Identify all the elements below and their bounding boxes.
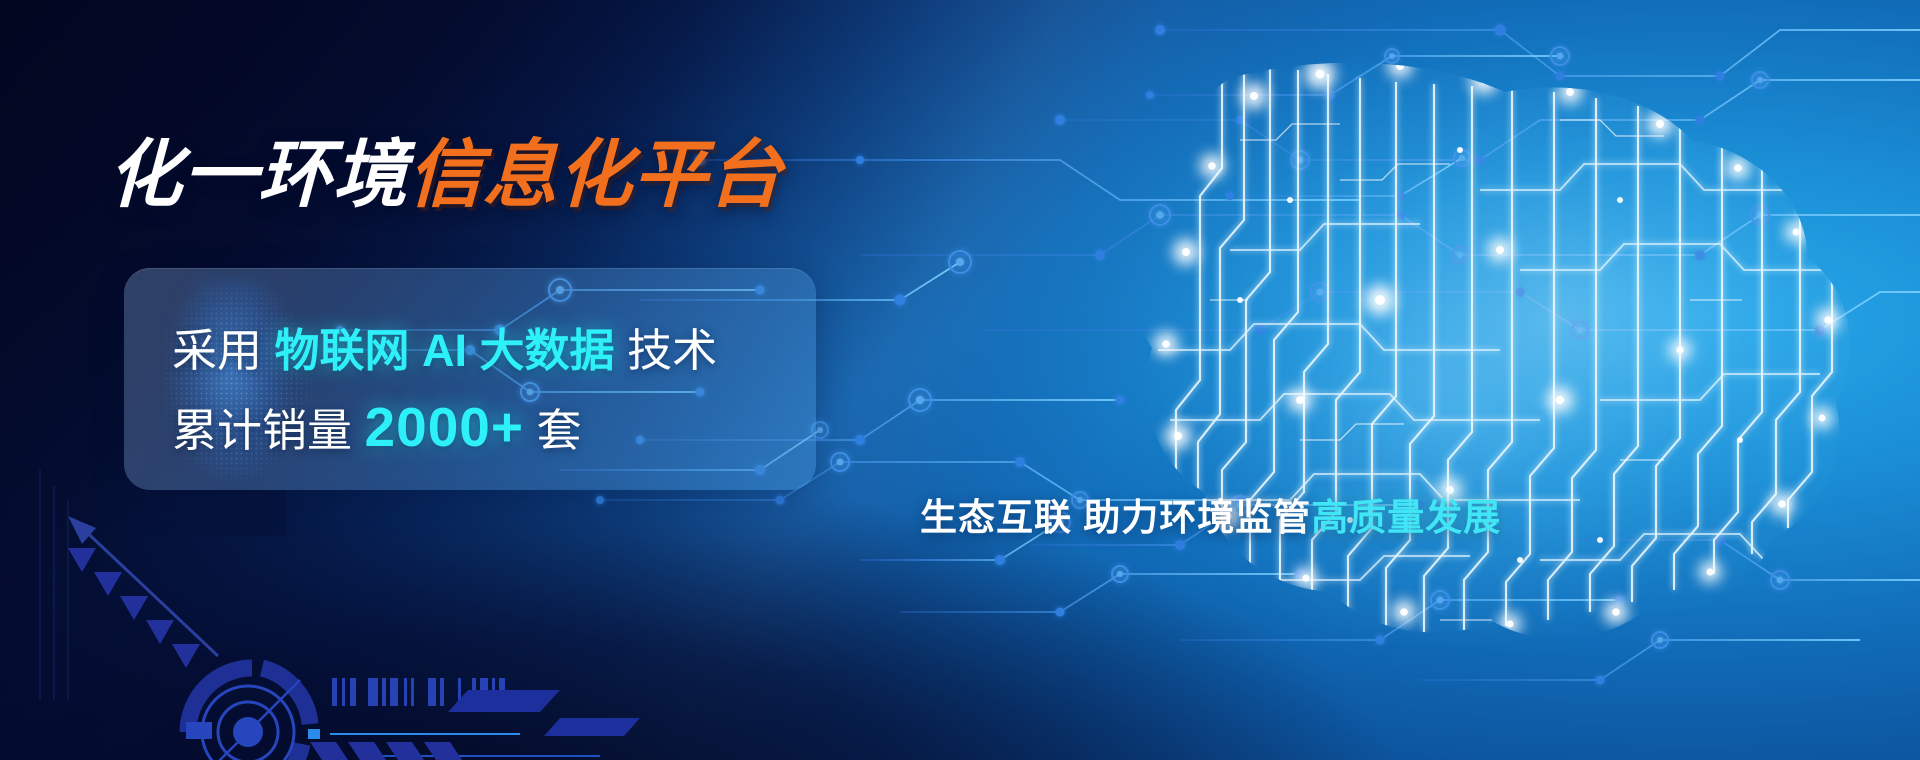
hud-decorations [0,0,1920,760]
chevron-row [310,742,462,760]
banner-root: 化一环境信息化平台 采用 物联网 AI 大数据 技术 累计销量 2000+ 套 … [0,0,1920,760]
radial-dial-icon [186,668,310,760]
arrow-up-right-icon [68,516,218,668]
card-pedestal [196,490,286,536]
pillar-streaks [40,470,68,700]
